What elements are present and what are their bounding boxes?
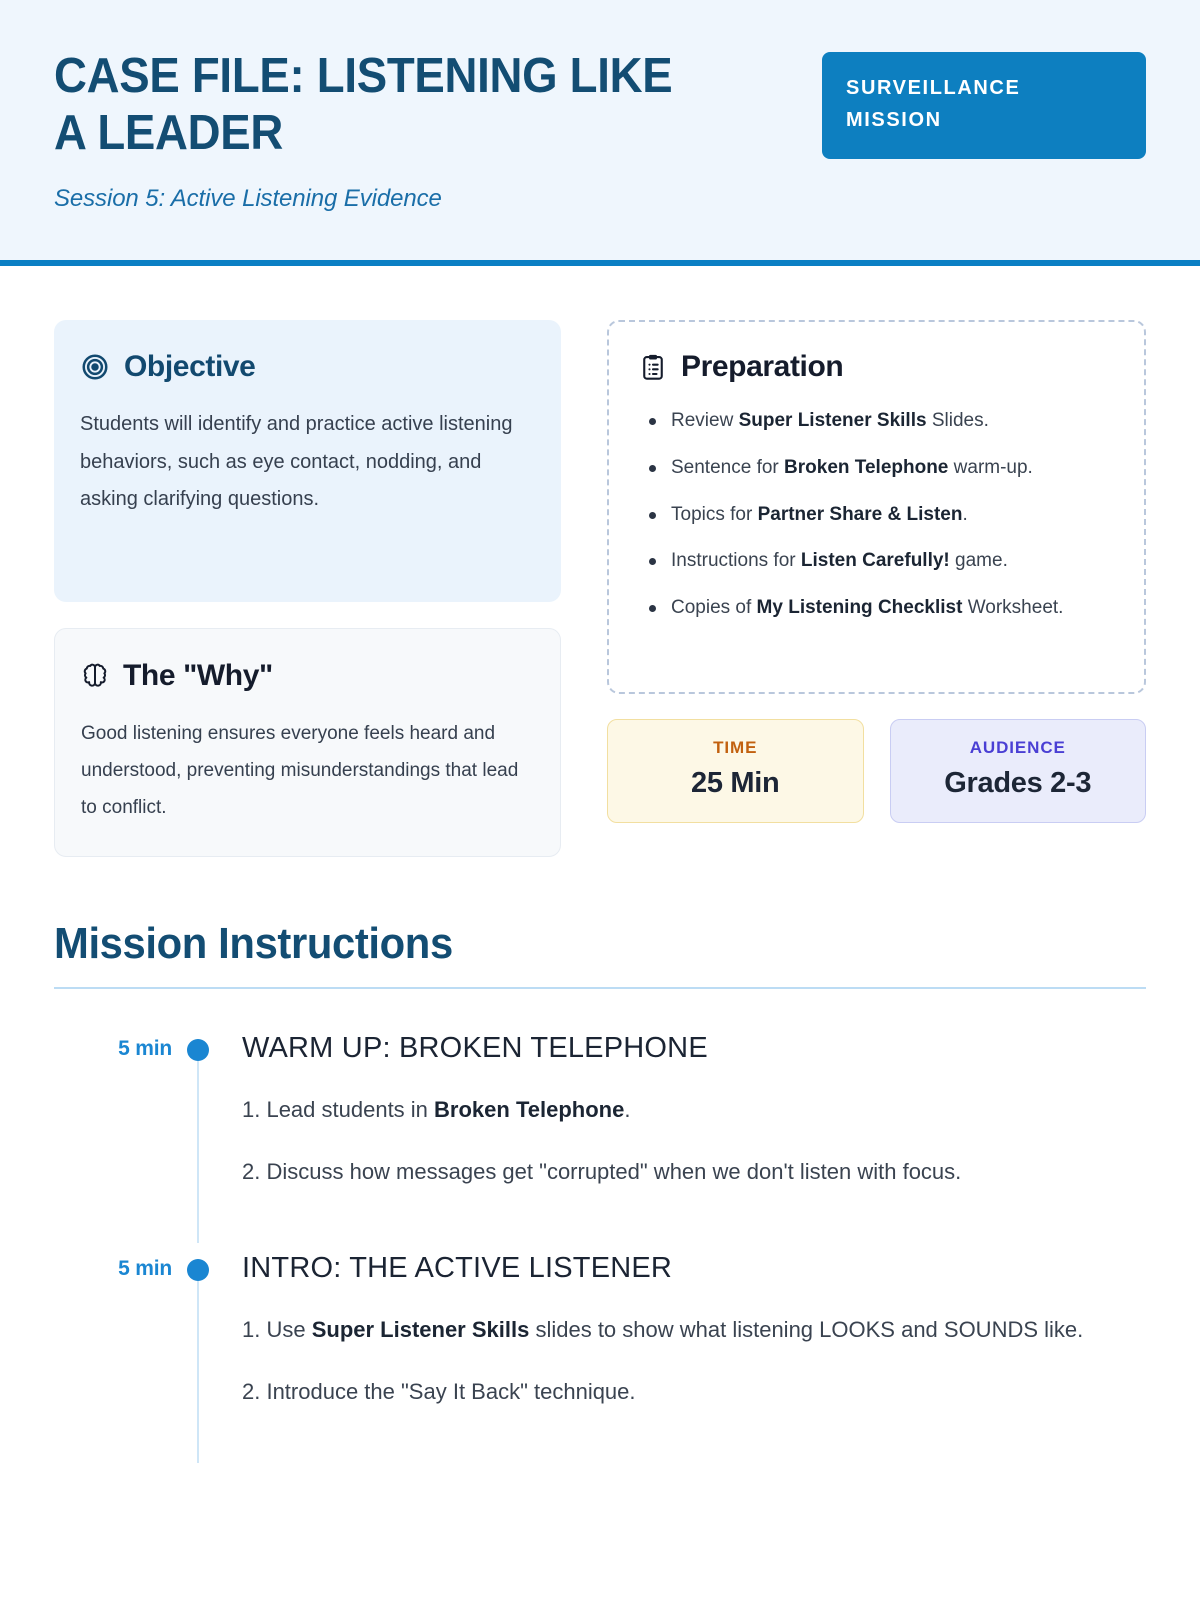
objective-body: Students will identify and practice acti… [80,406,535,519]
step-line: 1. Lead students in Broken Telephone. [242,1092,1146,1128]
objective-card-header: Objective [80,350,535,384]
preparation-list-item: Sentence for Broken Telephone warm-up. [639,453,1118,484]
left-column: Objective Students will identify and pra… [54,320,561,857]
preparation-list-item: Topics for Partner Share & Listen. [639,500,1118,531]
timeline-rail [172,1023,224,1243]
preparation-header: Preparation [639,350,1118,384]
step-content: INTRO: THE ACTIVE LISTENER1. Use Super L… [224,1243,1146,1463]
objective-card: Objective Students will identify and pra… [54,320,561,602]
stat-badge-row: TIME25 MinAUDIENCEGrades 2-3 [607,719,1146,823]
instructions-timeline: 5 minWARM UP: BROKEN TELEPHONE1. Lead st… [54,1023,1146,1463]
time-badge: TIME25 Min [607,719,864,823]
right-column: Preparation Review Super Listener Skills… [607,320,1146,857]
step-title: WARM UP: BROKEN TELEPHONE [242,1023,1146,1066]
page-title: CASE FILE: LISTENING LIKE A LEADER [54,48,705,163]
session-subtitle: Session 5: Active Listening Evidence [54,185,754,213]
step-duration: 5 min [54,1023,172,1243]
step-content: WARM UP: BROKEN TELEPHONE1. Lead student… [224,1023,1146,1243]
audience-badge: AUDIENCEGrades 2-3 [890,719,1147,823]
objective-title: Objective [124,350,255,384]
brain-icon [81,662,109,690]
mission-type-badge: SURVEILLANCE MISSION [822,52,1146,159]
preparation-list: Review Super Listener Skills Slides.Sent… [639,406,1118,624]
stat-label: AUDIENCE [901,738,1136,758]
stat-label: TIME [618,738,853,758]
page-content: Objective Students will identify and pra… [0,266,1200,1463]
lesson-plan-page: CASE FILE: LISTENING LIKE A LEADER Sessi… [0,0,1200,1600]
timeline-line [197,1259,199,1463]
overview-grid: Objective Students will identify and pra… [54,266,1146,857]
timeline-rail [172,1243,224,1463]
preparation-title: Preparation [681,350,843,384]
stat-value: 25 Min [618,767,853,800]
why-body: Good listening ensures everyone feels he… [81,715,534,826]
preparation-list-item: Copies of My Listening Checklist Workshe… [639,593,1118,624]
why-card-header: The "Why" [81,659,534,693]
preparation-box: Preparation Review Super Listener Skills… [607,320,1146,694]
page-header: CASE FILE: LISTENING LIKE A LEADER Sessi… [0,0,1200,266]
target-icon [80,352,110,382]
step-line: 2. Introduce the "Say It Back" technique… [242,1374,1146,1410]
timeline-line [197,1039,199,1243]
step-duration: 5 min [54,1243,172,1463]
timeline-step: 5 minINTRO: THE ACTIVE LISTENER1. Use Su… [54,1243,1146,1463]
timeline-step: 5 minWARM UP: BROKEN TELEPHONE1. Lead st… [54,1023,1146,1243]
clipboard-list-icon [639,353,667,381]
instructions-heading: Mission Instructions [54,919,1091,969]
header-text-block: CASE FILE: LISTENING LIKE A LEADER Sessi… [54,44,754,213]
why-card: The "Why" Good listening ensures everyon… [54,628,561,857]
instructions-divider [54,987,1146,989]
step-title: INTRO: THE ACTIVE LISTENER [242,1243,1146,1286]
step-line: 1. Use Super Listener Skills slides to s… [242,1312,1146,1348]
step-line: 2. Discuss how messages get "corrupted" … [242,1154,1146,1190]
stat-value: Grades 2-3 [901,767,1136,800]
preparation-list-item: Review Super Listener Skills Slides. [639,406,1118,437]
timeline-dot [187,1039,209,1061]
preparation-list-item: Instructions for Listen Carefully! game. [639,546,1118,577]
timeline-dot [187,1259,209,1281]
why-title: The "Why" [123,659,273,693]
